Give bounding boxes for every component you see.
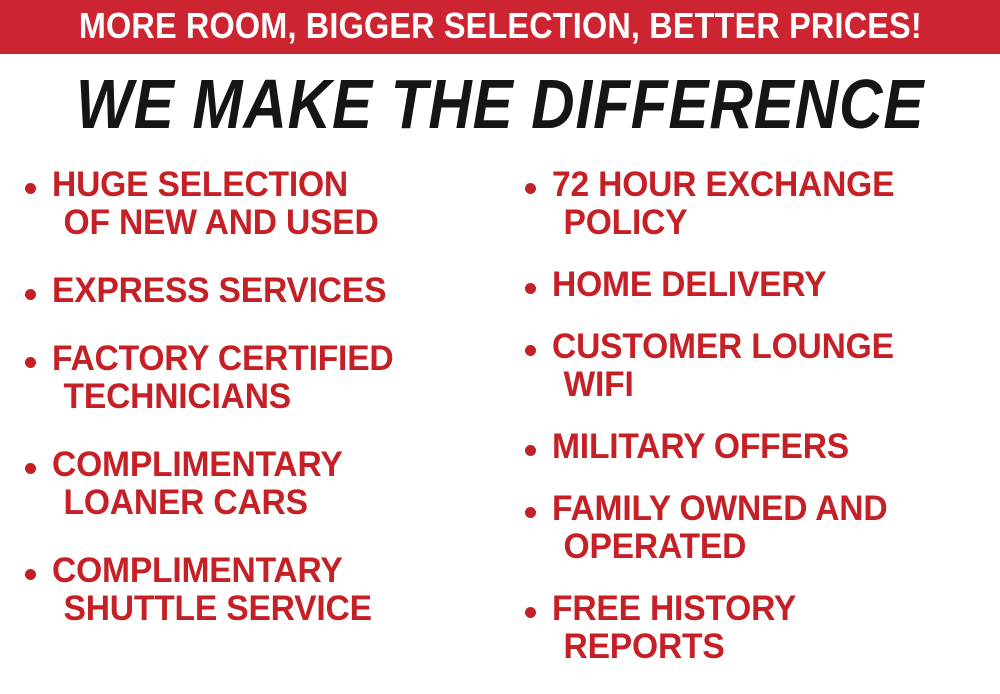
list-item: FACTORY CERTIFIED TECHNICIANS — [14, 340, 494, 416]
list-item-line2: OPERATED — [552, 528, 976, 566]
list-item-line1: FACTORY CERTIFIED — [52, 339, 393, 378]
benefits-column-right: 72 HOUR EXCHANGE POLICY HOME DELIVERY CU… — [514, 160, 994, 694]
bullet-dot-icon — [25, 569, 36, 580]
benefits-columns: HUGE SELECTION OF NEW AND USED EXPRESS S… — [0, 160, 1000, 694]
list-item-label: HUGE SELECTION OF NEW AND USED — [52, 166, 476, 242]
headline-container: WE MAKE THE DIFFERENCE — [0, 60, 1000, 148]
bullet-dot-icon — [25, 183, 36, 194]
list-item-label: 72 HOUR EXCHANGE POLICY — [552, 166, 976, 242]
bullet-dot-icon — [525, 183, 536, 194]
list-item-label: HOME DELIVERY — [552, 266, 976, 304]
list-item-line2: WIFI — [552, 366, 976, 404]
bullet-dot-icon — [525, 445, 536, 456]
list-item: FREE HISTORY REPORTS — [514, 590, 994, 666]
list-item: EXPRESS SERVICES — [14, 272, 494, 310]
list-item-line1: FREE HISTORY — [552, 589, 796, 628]
list-item-line1: COMPLIMENTARY — [52, 445, 343, 484]
list-item: FAMILY OWNED AND OPERATED — [514, 490, 994, 566]
bullet-dot-icon — [525, 507, 536, 518]
list-item-label: FAMILY OWNED AND OPERATED — [552, 490, 976, 566]
top-banner: MORE ROOM, BIGGER SELECTION, BETTER PRIC… — [0, 0, 1000, 54]
list-item-line2: LOANER CARS — [52, 484, 476, 522]
list-item-line2: TECHNICIANS — [52, 378, 476, 416]
list-item-line2: REPORTS — [552, 628, 976, 666]
list-item-line1: HUGE SELECTION — [52, 165, 348, 204]
list-item-label: CUSTOMER LOUNGE WIFI — [552, 328, 976, 404]
list-item-line1: CUSTOMER LOUNGE — [552, 327, 894, 366]
list-item-line2: OF NEW AND USED — [52, 204, 476, 242]
bullet-dot-icon — [25, 463, 36, 474]
list-item-line1: COMPLIMENTARY — [52, 551, 343, 590]
list-item-line1: 72 HOUR EXCHANGE — [552, 165, 894, 204]
bullet-dot-icon — [25, 289, 36, 300]
list-item-line1: EXPRESS SERVICES — [52, 271, 386, 310]
list-item-label: FACTORY CERTIFIED TECHNICIANS — [52, 340, 476, 416]
bullet-dot-icon — [525, 345, 536, 356]
bullet-dot-icon — [525, 283, 536, 294]
list-item-line2: SHUTTLE SERVICE — [52, 590, 476, 628]
list-item: COMPLIMENTARY SHUTTLE SERVICE — [14, 552, 494, 628]
benefits-column-left: HUGE SELECTION OF NEW AND USED EXPRESS S… — [14, 160, 494, 694]
list-item-label: COMPLIMENTARY SHUTTLE SERVICE — [52, 552, 476, 628]
list-item: COMPLIMENTARY LOANER CARS — [14, 446, 494, 522]
list-item-label: EXPRESS SERVICES — [52, 272, 476, 310]
list-item-line2: POLICY — [552, 204, 976, 242]
list-item-label: COMPLIMENTARY LOANER CARS — [52, 446, 476, 522]
list-item: HOME DELIVERY — [514, 266, 994, 304]
page-title: WE MAKE THE DIFFERENCE — [76, 69, 924, 139]
list-item: 72 HOUR EXCHANGE POLICY — [514, 166, 994, 242]
list-item: CUSTOMER LOUNGE WIFI — [514, 328, 994, 404]
bullet-dot-icon — [25, 357, 36, 368]
list-item-line1: MILITARY OFFERS — [552, 427, 849, 466]
top-banner-text: MORE ROOM, BIGGER SELECTION, BETTER PRIC… — [79, 8, 922, 46]
list-item-label: FREE HISTORY REPORTS — [552, 590, 976, 666]
list-item: MILITARY OFFERS — [514, 428, 994, 466]
list-item: HUGE SELECTION OF NEW AND USED — [14, 166, 494, 242]
bullet-dot-icon — [525, 607, 536, 618]
list-item-line1: HOME DELIVERY — [552, 265, 826, 304]
list-item-label: MILITARY OFFERS — [552, 428, 976, 466]
promo-poster: MORE ROOM, BIGGER SELECTION, BETTER PRIC… — [0, 0, 1000, 694]
list-item-line1: FAMILY OWNED AND — [552, 489, 887, 528]
